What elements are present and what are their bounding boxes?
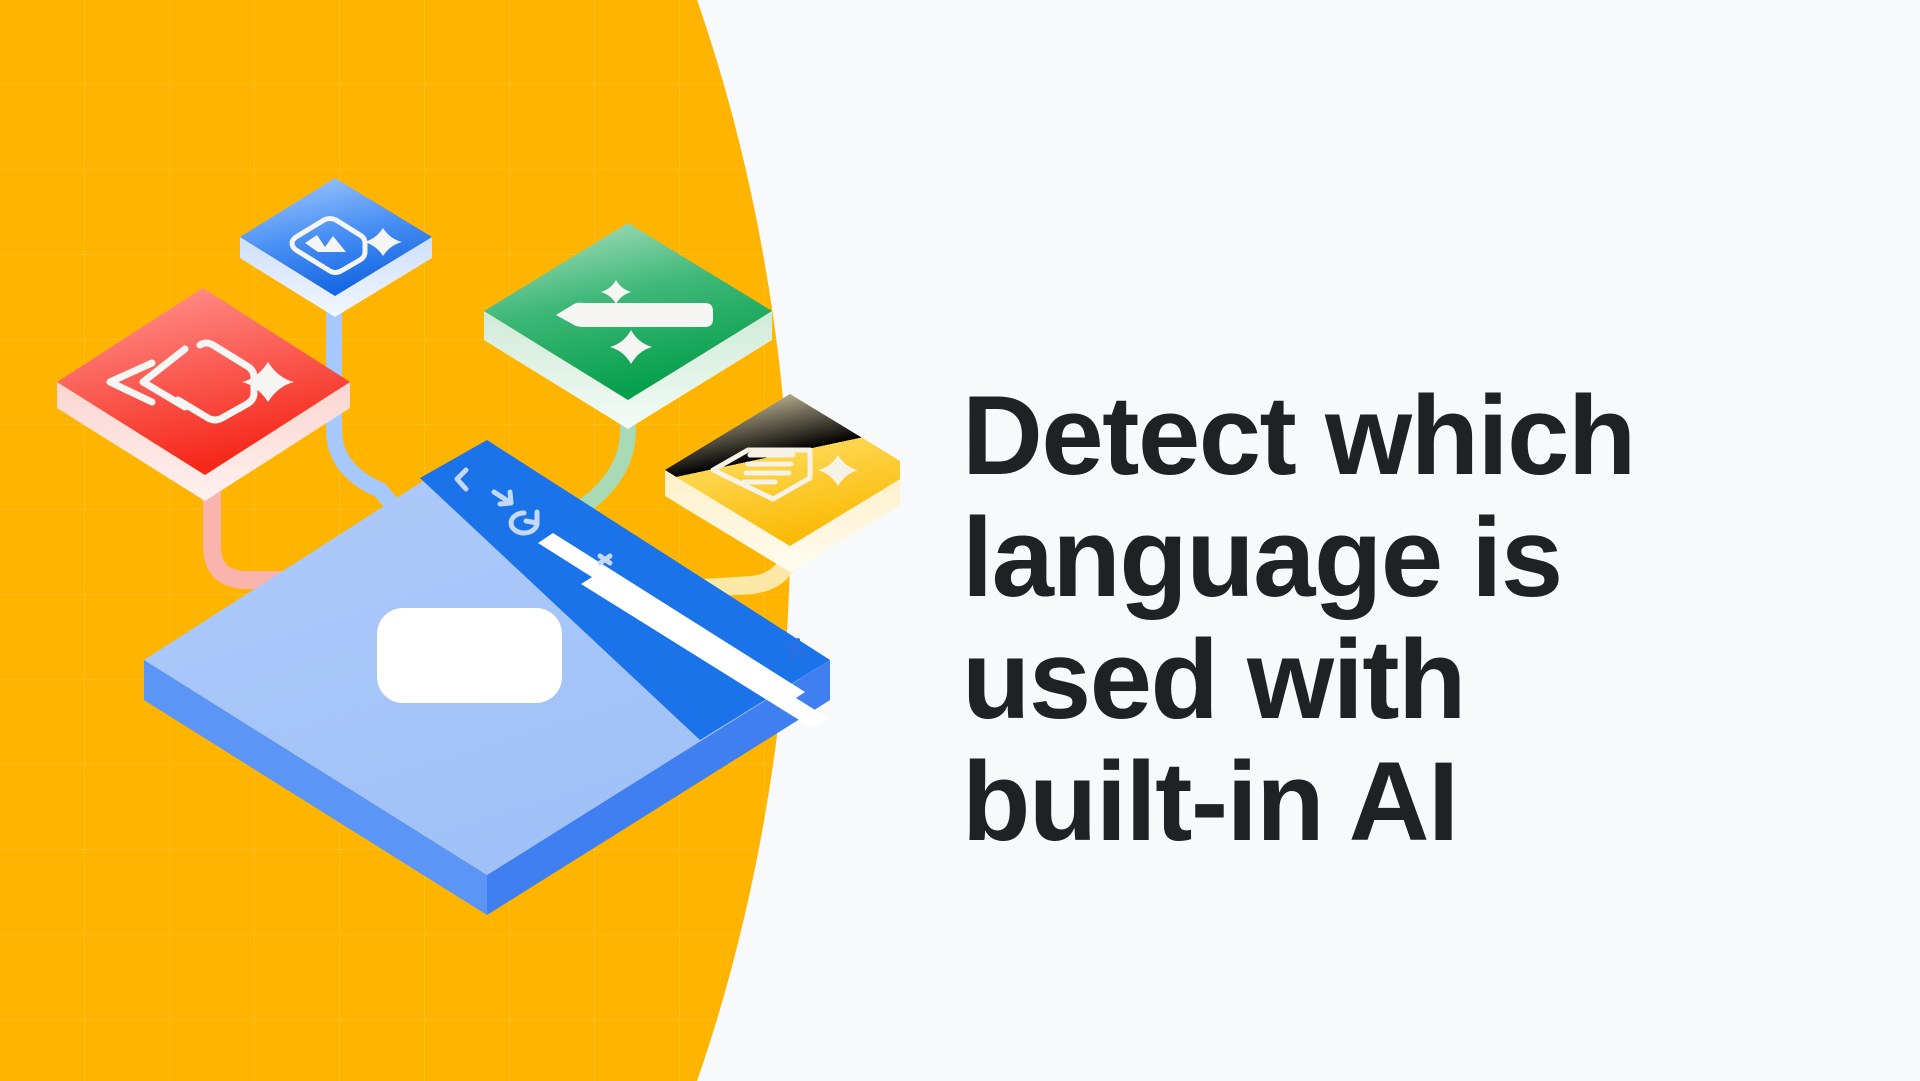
headline-line-2: language is [962,497,1782,619]
tile-image-top [240,178,432,296]
content-card [377,608,562,703]
writer-pencil-glyph [556,303,713,327]
tile-image-describer[interactable] [240,178,432,317]
headline-line-4: built-in AI [962,741,1782,863]
tile-summarizer[interactable] [665,394,900,572]
isometric-illustration [0,0,900,1081]
headline-line-3: used with [962,619,1782,741]
tab-close-icon [600,556,610,563]
tile-translator[interactable] [57,288,350,501]
headline-line-1: Detect which [962,375,1782,497]
tile-writer[interactable] [484,223,772,429]
tile-translator-top [57,288,350,475]
page-title: Detect which language is used with built… [962,375,1782,863]
hero-canvas: Detect which language is used with built… [0,0,1920,1081]
